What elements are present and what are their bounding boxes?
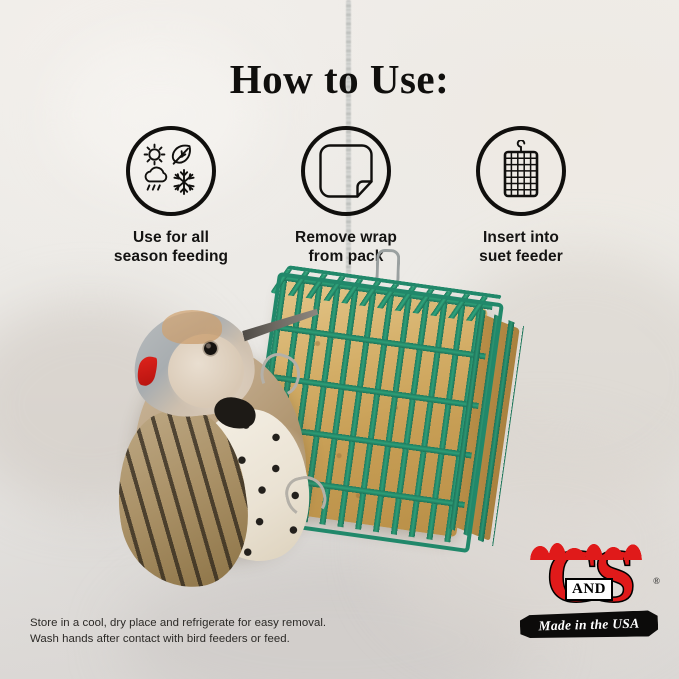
step-label-line2: suet feeder <box>479 248 563 267</box>
step-label-season-feeding: Use for all season feeding <box>114 229 228 267</box>
northern-flicker-bird <box>110 290 370 590</box>
instructions-line2: Wash hands after contact with bird feede… <box>30 631 326 647</box>
step-label-line2: season feeding <box>114 248 228 267</box>
wrapper-peel-icon <box>301 126 391 216</box>
made-in-usa-text: Made in the USA <box>538 616 639 635</box>
page-title: How to Use: <box>0 55 679 103</box>
step-label-line1: Insert into <box>479 229 563 248</box>
logo-letters: C S AND ® <box>514 538 664 616</box>
cands-brand-logo: C S AND ® Made in the USA <box>514 538 664 646</box>
logo-and-box: AND <box>565 578 613 601</box>
four-seasons-icon <box>126 126 216 216</box>
storage-instructions: Store in a cool, dry place and refrigera… <box>30 615 326 647</box>
step-label-line1: Remove wrap <box>295 229 397 248</box>
how-to-use-infographic: How to Use: <box>0 0 679 679</box>
registered-trademark-icon: ® <box>653 576 660 586</box>
step-remove-wrap-from-pack: Remove wrap from pack <box>271 126 421 267</box>
step-insert-into-suet-feeder: Insert into suet feeder <box>446 126 596 267</box>
suet-feeder-cage-icon <box>476 126 566 216</box>
product-photo <box>0 272 520 632</box>
bird-crown <box>162 310 222 344</box>
instructions-line1: Store in a cool, dry place and refrigera… <box>30 615 326 631</box>
step-label-insert-suet: Insert into suet feeder <box>479 229 563 267</box>
steps-row: Use for all season feeding Remove wrap f… <box>96 126 596 267</box>
bird-eye <box>204 342 217 355</box>
step-label-line1: Use for all <box>114 229 228 248</box>
step-use-for-all-season-feeding: Use for all season feeding <box>96 126 246 267</box>
bird-beak <box>241 309 321 343</box>
